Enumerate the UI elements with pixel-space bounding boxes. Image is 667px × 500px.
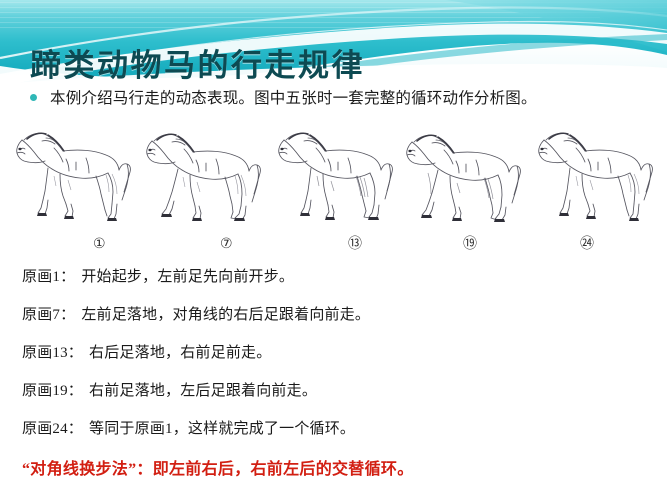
frame-number-7: ⑦ bbox=[220, 233, 233, 255]
horse-line-drawing-icon bbox=[400, 118, 528, 230]
horse-frame-strip bbox=[8, 118, 659, 230]
description-label-3: 原画13： bbox=[22, 334, 83, 372]
description-label-2: 原画7： bbox=[22, 296, 75, 334]
frame-number-1: ① bbox=[93, 233, 106, 255]
horse-line-drawing-icon bbox=[139, 118, 267, 230]
presentation-slide: 蹄类动物马的行走规律 本例介绍马行走的动态表现。图中五张时一套完整的循环动作分析… bbox=[0, 0, 667, 500]
horse-sketch-frame-7 bbox=[139, 118, 267, 230]
description-line-1: 原画1：开始起步，左前足先向前开步。 bbox=[22, 258, 642, 296]
description-text-5: 等同于原画1，这样就完成了一个循环。 bbox=[89, 410, 355, 448]
description-line-5: 原画24：等同于原画1，这样就完成了一个循环。 bbox=[22, 410, 642, 448]
description-text-4: 右前足落地，左后足跟着向前走。 bbox=[89, 372, 317, 410]
bullet-dot-icon bbox=[30, 94, 37, 101]
frame-number-row: ① ⑦ ⑬ ⑲ ㉔ bbox=[8, 233, 659, 255]
description-line-4: 原画19：右前足落地，左后足跟着向前走。 bbox=[22, 372, 642, 410]
horse-line-drawing-icon bbox=[8, 118, 136, 230]
description-line-2: 原画7：左前足落地，对角线的右后足跟着向前走。 bbox=[22, 296, 642, 334]
intro-bullet-text: 本例介绍马行走的动态表现。图中五张时一套完整的循环动作分析图。 bbox=[50, 86, 537, 108]
description-label-5: 原画24： bbox=[22, 410, 83, 448]
horse-sketch-frame-13 bbox=[270, 118, 398, 230]
conclusion-text: “对角线换步法”：即左前右后，右前左后的交替循环。 bbox=[22, 455, 414, 479]
horse-sketch-frame-24 bbox=[531, 118, 659, 230]
description-label-4: 原画19： bbox=[22, 372, 83, 410]
horse-sketch-frame-19 bbox=[400, 118, 528, 230]
horse-sketch-frame-1 bbox=[8, 118, 136, 230]
description-text-2: 左前足落地，对角线的右后足跟着向前走。 bbox=[81, 296, 370, 334]
horse-line-drawing-icon bbox=[531, 118, 659, 230]
frame-number-19: ⑲ bbox=[463, 233, 477, 255]
description-text-1: 开始起步，左前足先向前开步。 bbox=[81, 258, 294, 296]
intro-bullet-row: 本例介绍马行走的动态表现。图中五张时一套完整的循环动作分析图。 bbox=[30, 86, 537, 108]
frame-number-24: ㉔ bbox=[580, 233, 594, 255]
description-text-3: 右后足落地，右前足前走。 bbox=[89, 334, 271, 372]
description-list: 原画1：开始起步，左前足先向前开步。 原画7：左前足落地，对角线的右后足跟着向前… bbox=[22, 258, 642, 448]
description-line-3: 原画13：右后足落地，右前足前走。 bbox=[22, 334, 642, 372]
page-title: 蹄类动物马的行走规律 bbox=[30, 40, 365, 85]
horse-line-drawing-icon bbox=[270, 118, 398, 230]
frame-number-13: ⑬ bbox=[348, 233, 362, 255]
description-label-1: 原画1： bbox=[22, 258, 75, 296]
